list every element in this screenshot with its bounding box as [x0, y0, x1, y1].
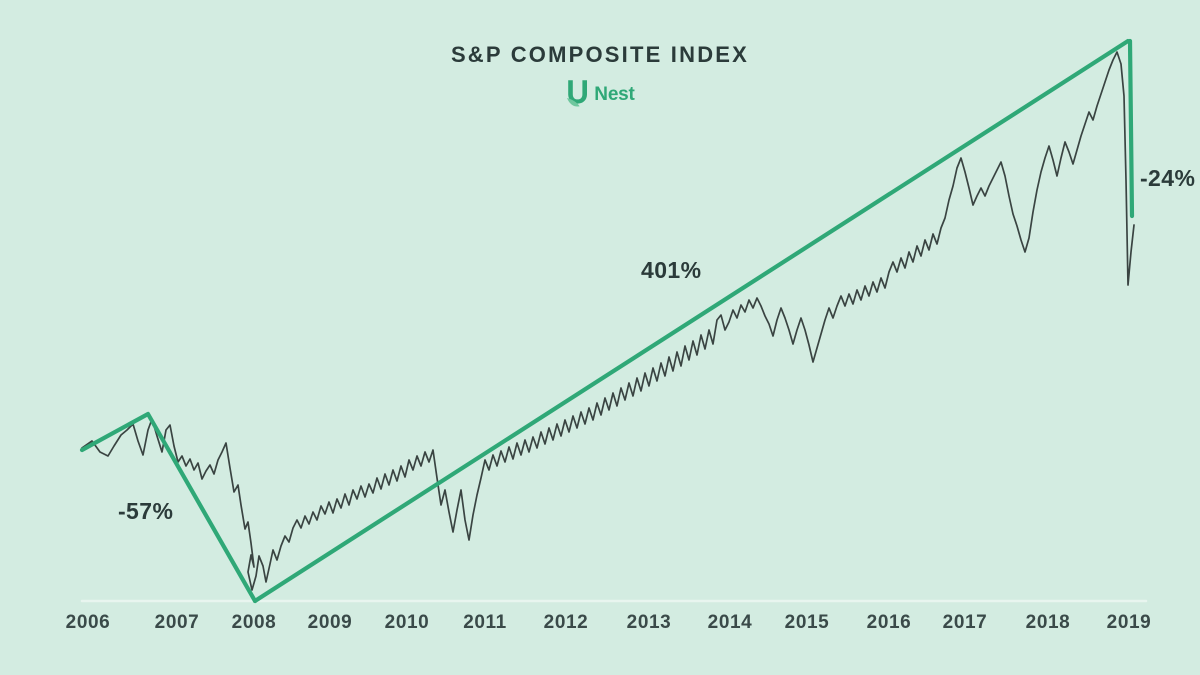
trend-lines-group	[82, 41, 1132, 601]
x-axis-tick-2016: 2016	[867, 612, 912, 634]
x-axis-tick-2011: 2011	[463, 612, 507, 634]
x-axis-tick-2014: 2014	[708, 612, 753, 634]
trend-line-bull-run-2009-2020	[255, 41, 1128, 601]
chart-canvas: S&P COMPOSITE INDEX Nest -57% 401% -24% …	[0, 0, 1200, 675]
sp-composite-index-plot	[0, 0, 1200, 675]
x-axis-tick-2017: 2017	[943, 612, 988, 634]
annotation-drawdown-2020: -24%	[1140, 165, 1195, 192]
x-axis-tick-2012: 2012	[544, 612, 589, 634]
x-axis-tick-2010: 2010	[385, 612, 430, 634]
x-axis-tick-2015: 2015	[785, 612, 830, 634]
x-axis-tick-2006: 2006	[66, 612, 111, 634]
annotation-bull-run: 401%	[641, 257, 701, 284]
trend-line-drawdown-2020	[1130, 41, 1132, 216]
x-axis-tick-2013: 2013	[627, 612, 672, 634]
x-axis-tick-2009: 2009	[308, 612, 353, 634]
x-axis-tick-2007: 2007	[155, 612, 200, 634]
x-axis-tick-2019: 2019	[1107, 612, 1152, 634]
x-axis-tick-2018: 2018	[1026, 612, 1071, 634]
x-axis-tick-2008: 2008	[232, 612, 277, 634]
price-series-line	[82, 52, 1134, 590]
x-axis-tick-labels: 2006200720082009201020112012201320142015…	[0, 612, 1200, 646]
annotation-drawdown-2007-2009: -57%	[118, 498, 173, 525]
